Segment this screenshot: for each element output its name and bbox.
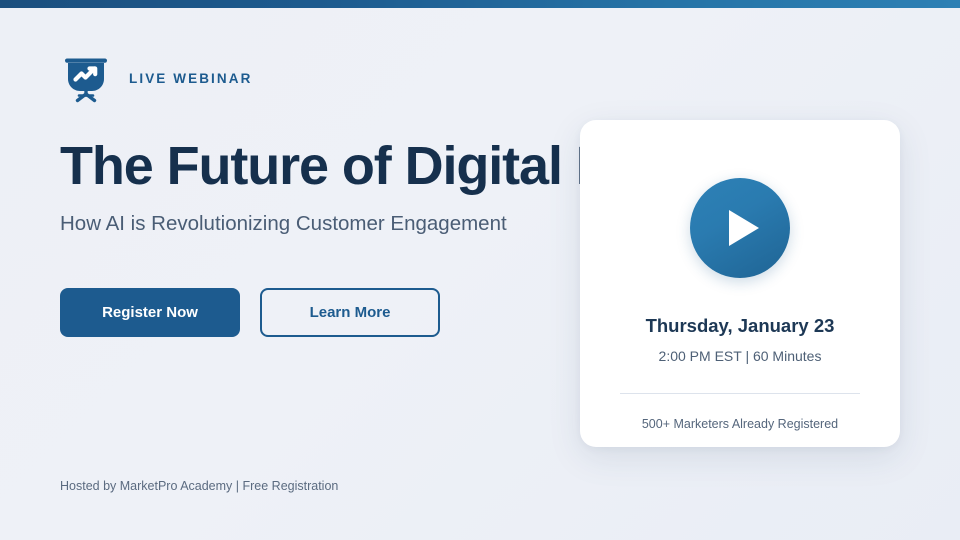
landing-page: LIVE WEBINAR The Future of Digital Marke… xyxy=(0,8,960,540)
brand-row: LIVE WEBINAR xyxy=(60,52,252,104)
top-accent-bar xyxy=(0,0,960,8)
webinar-date: Thursday, January 23 xyxy=(646,315,835,337)
play-button[interactable] xyxy=(690,178,790,278)
learn-more-button[interactable]: Learn More xyxy=(260,288,440,337)
eyebrow-label: LIVE WEBINAR xyxy=(129,71,252,86)
social-proof-label: 500+ Marketers Already Registered xyxy=(642,417,838,431)
register-now-button[interactable]: Register Now xyxy=(60,288,240,337)
webinar-time: 2:00 PM EST | 60 Minutes xyxy=(659,348,822,364)
presentation-chart-icon xyxy=(60,52,112,104)
play-triangle-icon xyxy=(729,210,759,246)
card-divider xyxy=(620,393,860,394)
webinar-info-card: Thursday, January 23 2:00 PM EST | 60 Mi… xyxy=(580,120,900,447)
footer-note: Hosted by MarketPro Academy | Free Regis… xyxy=(60,479,338,493)
cta-button-group: Register Now Learn More xyxy=(60,288,440,337)
